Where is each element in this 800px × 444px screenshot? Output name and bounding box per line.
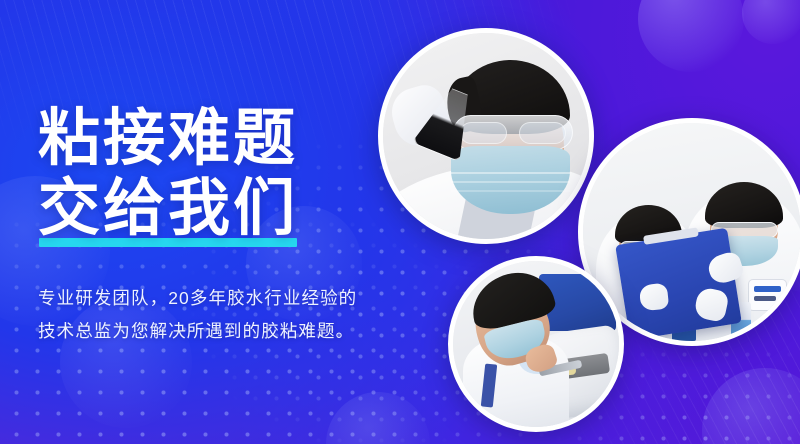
headline-line-2: 交给我们: [38, 174, 357, 244]
goggle-lens-left: [460, 122, 507, 144]
photo-technician-applying-adhesive: [448, 256, 624, 432]
scene-adhesive-application: [453, 261, 619, 427]
text-block: 粘接难题 交给我们 专业研发团队，20多年胶水行业经验的 技术总监为您解决所遇到…: [38, 104, 357, 348]
glow-circle-bottom-right: [702, 368, 800, 444]
photo-scientist-holding-flask: [378, 28, 594, 244]
glow-circle-top-right-small: [742, 0, 800, 44]
subtitle: 专业研发团队，20多年胶水行业经验的 技术总监为您解决所遇到的胶粘难题。: [38, 282, 357, 348]
glow-circle-bottom-center: [326, 392, 430, 444]
scene-scientist-flask: [383, 33, 589, 239]
badge-logo-text: [754, 296, 776, 301]
goggle-lens-right: [519, 122, 566, 144]
blue-clipboard: [615, 228, 742, 340]
subtitle-line-2: 技术总监为您解决所遇到的胶粘难题。: [38, 315, 357, 348]
headline: 粘接难题 交给我们: [38, 104, 357, 244]
subtitle-line-1: 专业研发团队，20多年胶水行业经验的: [38, 282, 357, 315]
promo-banner: 粘接难题 交给我们 专业研发团队，20多年胶水行业经验的 技术总监为您解决所遇到…: [0, 0, 800, 444]
badge-logo-mark: [754, 286, 782, 292]
safety-goggles: [453, 115, 572, 150]
company-logo-badge: [749, 280, 786, 310]
headline-line-1: 粘接难题: [38, 104, 357, 174]
glow-circle-top-right: [638, 0, 744, 72]
